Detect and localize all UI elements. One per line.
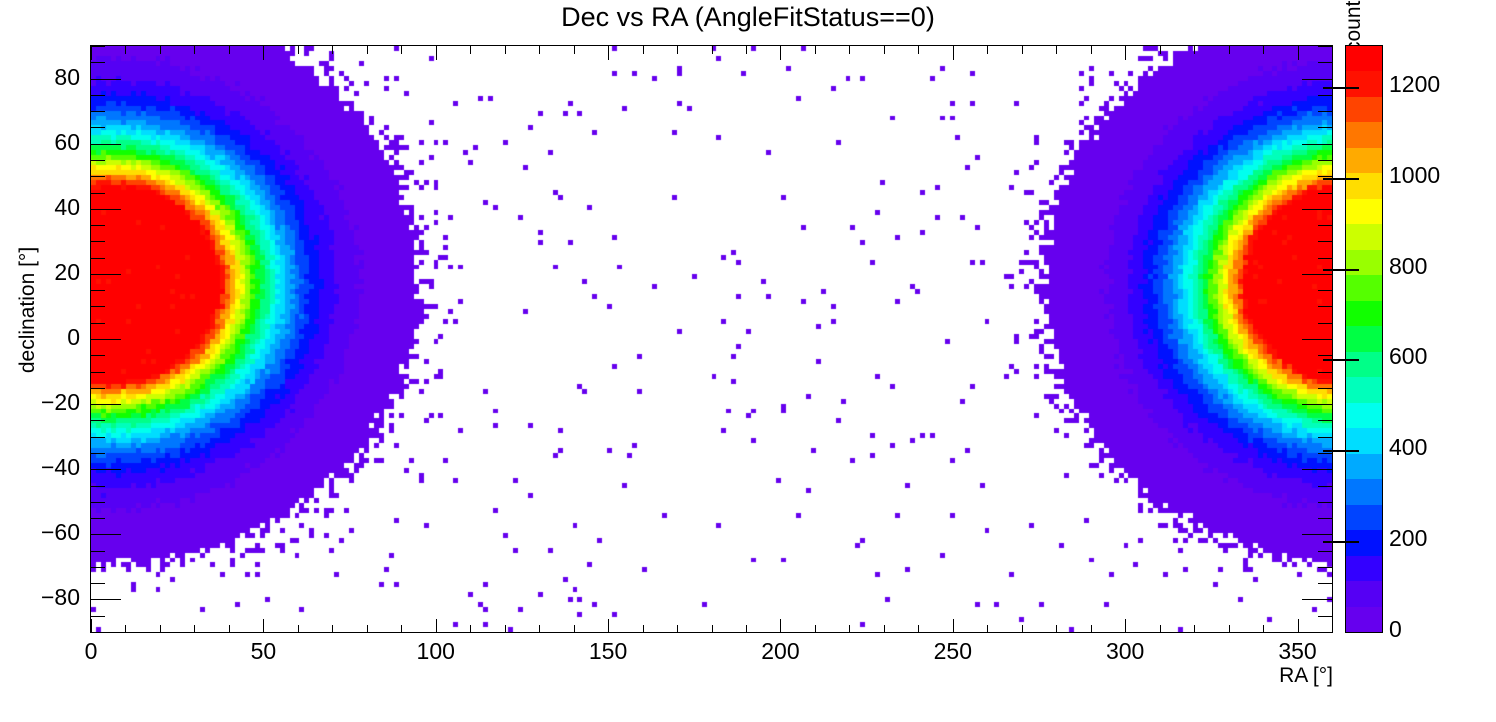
color-scale-bar xyxy=(1345,45,1383,633)
x-tick-top-350 xyxy=(1298,46,1299,60)
x-tick-250 xyxy=(953,619,954,633)
x-tick-300 xyxy=(1125,619,1126,633)
z-tick-800 xyxy=(1323,269,1359,271)
y-tick-right--80 xyxy=(1302,599,1332,600)
y-tick-right--35 xyxy=(1318,453,1332,454)
x-tick-top-10 xyxy=(125,46,126,54)
x-tick-330 xyxy=(1229,625,1230,633)
x-tick-200 xyxy=(780,619,781,633)
y-tick-5 xyxy=(91,323,105,324)
x-tick-top-130 xyxy=(539,46,540,54)
y-tick-label--20: −20 xyxy=(0,389,80,416)
y-tick-right--90 xyxy=(1318,632,1332,633)
y-tick-right-90 xyxy=(1318,46,1332,47)
histogram-canvas xyxy=(91,46,1332,632)
x-tick-230 xyxy=(884,625,885,633)
y-tick--5 xyxy=(91,355,105,356)
z-tick-label-1000: 1000 xyxy=(1389,162,1496,189)
z-tick-label-600: 600 xyxy=(1389,343,1496,370)
x-tick-top-220 xyxy=(849,46,850,54)
y-tick-label-40: 40 xyxy=(0,194,80,221)
x-tick-170 xyxy=(677,625,678,633)
y-tick--20 xyxy=(91,404,121,405)
x-tick-280 xyxy=(1056,625,1057,633)
x-tick-top-30 xyxy=(194,46,195,54)
x-tick-210 xyxy=(815,625,816,633)
x-tick-label-200: 200 xyxy=(720,638,840,665)
y-tick-right--5 xyxy=(1318,355,1332,356)
x-tick-label-300: 300 xyxy=(1065,638,1185,665)
x-tick-top-70 xyxy=(332,46,333,54)
y-tick-right--65 xyxy=(1318,551,1332,552)
y-tick-right-25 xyxy=(1318,258,1332,259)
x-tick-top-100 xyxy=(436,46,437,60)
x-tick-290 xyxy=(1091,625,1092,633)
y-tick-right-45 xyxy=(1318,193,1332,194)
x-tick-top-0 xyxy=(91,46,92,60)
color-scale-band-2 xyxy=(1346,556,1382,581)
color-scale-band-11 xyxy=(1346,326,1382,351)
color-scale-band-6 xyxy=(1346,454,1382,479)
x-tick-320 xyxy=(1194,625,1195,633)
x-tick-top-320 xyxy=(1194,46,1195,54)
y-tick--50 xyxy=(91,502,105,503)
y-tick-right-85 xyxy=(1318,62,1332,63)
x-tick-270 xyxy=(1022,625,1023,633)
y-tick-right-10 xyxy=(1318,306,1332,307)
y-tick-65 xyxy=(91,127,105,128)
y-tick-80 xyxy=(91,79,121,80)
x-tick-top-80 xyxy=(367,46,368,54)
z-tick-200 xyxy=(1323,541,1359,543)
x-tick-100 xyxy=(436,619,437,633)
y-tick--55 xyxy=(91,518,105,519)
y-tick-right--50 xyxy=(1318,502,1332,503)
y-tick-20 xyxy=(91,274,121,275)
color-scale-band-9 xyxy=(1346,377,1382,402)
z-tick-1200 xyxy=(1323,87,1359,89)
x-tick-top-240 xyxy=(918,46,919,54)
z-tick-label-1200: 1200 xyxy=(1389,71,1496,98)
x-tick-top-140 xyxy=(574,46,575,54)
x-tick-310 xyxy=(1160,625,1161,633)
y-tick--80 xyxy=(91,599,121,600)
x-tick-0 xyxy=(91,619,92,633)
y-tick-right--25 xyxy=(1318,420,1332,421)
x-tick-150 xyxy=(608,619,609,633)
y-tick-right-40 xyxy=(1302,209,1332,210)
y-tick-right-15 xyxy=(1318,290,1332,291)
y-tick-0 xyxy=(91,339,121,340)
x-tick-top-250 xyxy=(953,46,954,60)
y-tick-label--60: −60 xyxy=(0,519,80,546)
x-tick-240 xyxy=(918,625,919,633)
y-tick-right--60 xyxy=(1302,534,1332,535)
x-tick-top-330 xyxy=(1229,46,1230,54)
y-tick-right--70 xyxy=(1318,567,1332,568)
color-scale-band-12 xyxy=(1346,301,1382,326)
x-tick-10 xyxy=(125,625,126,633)
x-tick-top-270 xyxy=(1022,46,1023,54)
y-tick-45 xyxy=(91,193,105,194)
color-scale-band-21 xyxy=(1346,71,1382,96)
z-tick-label-0: 0 xyxy=(1389,616,1496,643)
x-tick-190 xyxy=(746,625,747,633)
y-tick-right--40 xyxy=(1302,469,1332,470)
x-tick-120 xyxy=(505,625,506,633)
x-tick-40 xyxy=(229,625,230,633)
y-tick--25 xyxy=(91,420,105,421)
x-tick-top-190 xyxy=(746,46,747,54)
x-tick-top-160 xyxy=(643,46,644,54)
y-tick-15 xyxy=(91,290,105,291)
chart-root: Dec vs RA (AngleFitStatus==0) declinatio… xyxy=(0,0,1496,722)
y-tick-right--20 xyxy=(1302,404,1332,405)
y-tick-25 xyxy=(91,258,105,259)
y-tick-right-50 xyxy=(1318,176,1332,177)
x-tick-140 xyxy=(574,625,575,633)
x-tick-130 xyxy=(539,625,540,633)
x-tick-90 xyxy=(401,625,402,633)
x-tick-top-120 xyxy=(505,46,506,54)
y-tick--65 xyxy=(91,551,105,552)
x-tick-top-60 xyxy=(298,46,299,54)
x-tick-top-170 xyxy=(677,46,678,54)
y-tick-right-0 xyxy=(1302,339,1332,340)
y-tick-right--10 xyxy=(1318,372,1332,373)
x-tick-top-360 xyxy=(1332,46,1333,54)
y-tick--90 xyxy=(91,632,105,633)
y-tick-right-20 xyxy=(1302,274,1332,275)
y-tick-right-55 xyxy=(1318,160,1332,161)
y-tick-85 xyxy=(91,62,105,63)
z-tick-400 xyxy=(1323,450,1359,452)
y-tick-label-80: 80 xyxy=(0,64,80,91)
x-tick-label-250: 250 xyxy=(893,638,1013,665)
y-tick--45 xyxy=(91,486,105,487)
x-tick-220 xyxy=(849,625,850,633)
y-tick--15 xyxy=(91,388,105,389)
color-scale-band-20 xyxy=(1346,97,1382,122)
z-tick-label-400: 400 xyxy=(1389,434,1496,461)
y-tick-right--30 xyxy=(1318,437,1332,438)
x-axis-title: RA [°] xyxy=(1153,664,1333,688)
color-scale-band-5 xyxy=(1346,479,1382,504)
y-tick-right-30 xyxy=(1318,241,1332,242)
x-tick-top-300 xyxy=(1125,46,1126,60)
y-tick-label--40: −40 xyxy=(0,454,80,481)
y-tick-label-60: 60 xyxy=(0,129,80,156)
y-tick-right--55 xyxy=(1318,518,1332,519)
y-tick-right--15 xyxy=(1318,388,1332,389)
color-scale-band-4 xyxy=(1346,505,1382,530)
x-tick-label-50: 50 xyxy=(203,638,323,665)
color-scale-band-18 xyxy=(1346,148,1382,173)
color-scale-band-22 xyxy=(1346,46,1382,71)
y-tick-40 xyxy=(91,209,121,210)
y-tick-35 xyxy=(91,225,105,226)
x-tick-label-350: 350 xyxy=(1238,638,1358,665)
x-tick-70 xyxy=(332,625,333,633)
y-tick-label-20: 20 xyxy=(0,259,80,286)
x-tick-top-210 xyxy=(815,46,816,54)
y-tick-90 xyxy=(91,46,105,47)
z-tick-600 xyxy=(1323,359,1359,361)
color-scale-band-10 xyxy=(1346,352,1382,377)
x-tick-top-110 xyxy=(470,46,471,54)
x-tick-top-150 xyxy=(608,46,609,60)
x-tick-260 xyxy=(987,625,988,633)
x-tick-top-180 xyxy=(712,46,713,54)
y-tick-right-70 xyxy=(1318,111,1332,112)
x-tick-top-50 xyxy=(263,46,264,60)
y-tick-50 xyxy=(91,176,105,177)
color-scale-band-16 xyxy=(1346,199,1382,224)
x-tick-top-310 xyxy=(1160,46,1161,54)
color-scale-band-14 xyxy=(1346,250,1382,275)
x-tick-top-340 xyxy=(1263,46,1264,54)
y-tick--40 xyxy=(91,469,121,470)
y-tick-55 xyxy=(91,160,105,161)
x-tick-top-280 xyxy=(1056,46,1057,54)
plot-frame xyxy=(90,45,1333,633)
y-tick-right-80 xyxy=(1302,79,1332,80)
z-tick-label-800: 800 xyxy=(1389,253,1496,280)
page-title: Dec vs RA (AngleFitStatus==0) xyxy=(0,2,1496,33)
x-tick-top-20 xyxy=(160,46,161,54)
color-scale-band-13 xyxy=(1346,275,1382,300)
y-tick--85 xyxy=(91,616,105,617)
x-tick-160 xyxy=(643,625,644,633)
y-tick-label--80: −80 xyxy=(0,584,80,611)
y-tick-right-60 xyxy=(1302,144,1332,145)
x-tick-350 xyxy=(1298,619,1299,633)
x-tick-label-0: 0 xyxy=(31,638,151,665)
y-tick--70 xyxy=(91,567,105,568)
x-tick-60 xyxy=(298,625,299,633)
x-tick-20 xyxy=(160,625,161,633)
y-tick-right--75 xyxy=(1318,583,1332,584)
x-tick-top-290 xyxy=(1091,46,1092,54)
x-tick-top-260 xyxy=(987,46,988,54)
x-tick-50 xyxy=(263,619,264,633)
y-tick-right-5 xyxy=(1318,323,1332,324)
y-tick--30 xyxy=(91,437,105,438)
x-tick-top-90 xyxy=(401,46,402,54)
y-tick-60 xyxy=(91,144,121,145)
y-tick-30 xyxy=(91,241,105,242)
color-scale-band-0 xyxy=(1346,607,1382,632)
x-tick-top-230 xyxy=(884,46,885,54)
color-scale-band-15 xyxy=(1346,224,1382,249)
color-scale-band-1 xyxy=(1346,581,1382,606)
y-tick--10 xyxy=(91,372,105,373)
x-tick-360 xyxy=(1332,625,1333,633)
y-tick-right--45 xyxy=(1318,486,1332,487)
y-tick-right-75 xyxy=(1318,95,1332,96)
y-tick-10 xyxy=(91,306,105,307)
x-tick-110 xyxy=(470,625,471,633)
x-tick-label-150: 150 xyxy=(548,638,668,665)
color-scale-band-8 xyxy=(1346,403,1382,428)
y-tick-70 xyxy=(91,111,105,112)
x-tick-340 xyxy=(1263,625,1264,633)
y-tick-75 xyxy=(91,95,105,96)
y-tick-right-35 xyxy=(1318,225,1332,226)
y-tick--35 xyxy=(91,453,105,454)
color-scale-band-19 xyxy=(1346,122,1382,147)
z-tick-label-200: 200 xyxy=(1389,525,1496,552)
z-tick-1000 xyxy=(1323,178,1359,180)
y-tick-label-0: 0 xyxy=(0,324,80,351)
y-tick-right-65 xyxy=(1318,127,1332,128)
x-tick-label-100: 100 xyxy=(376,638,496,665)
x-tick-180 xyxy=(712,625,713,633)
x-tick-80 xyxy=(367,625,368,633)
y-tick-right--85 xyxy=(1318,616,1332,617)
y-tick--60 xyxy=(91,534,121,535)
x-tick-top-200 xyxy=(780,46,781,60)
x-tick-30 xyxy=(194,625,195,633)
y-tick--75 xyxy=(91,583,105,584)
x-tick-top-40 xyxy=(229,46,230,54)
